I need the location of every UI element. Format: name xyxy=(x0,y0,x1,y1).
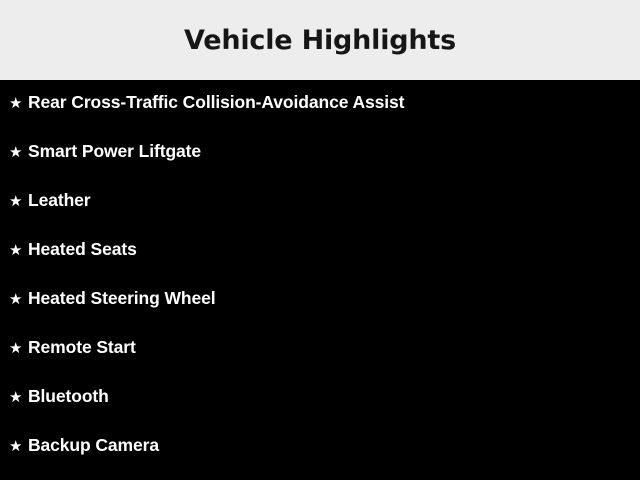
list-item: ★Leather xyxy=(0,190,640,239)
star-icon: ★ xyxy=(9,93,28,113)
star-icon: ★ xyxy=(9,191,28,211)
page-title: Vehicle Highlights xyxy=(184,27,456,54)
highlight-label: Heated Seats xyxy=(28,239,640,259)
list-item: ★Rear Cross-Traffic Collision-Avoidance … xyxy=(0,92,640,141)
highlight-label: Heated Steering Wheel xyxy=(28,288,640,308)
highlights-body: ★Rear Cross-Traffic Collision-Avoidance … xyxy=(0,80,640,480)
star-icon: ★ xyxy=(9,289,28,309)
star-icon: ★ xyxy=(9,240,28,260)
star-icon: ★ xyxy=(9,387,28,407)
highlight-label: Backup Camera xyxy=(28,435,640,455)
vehicle-highlights-panel: Vehicle Highlights ★Rear Cross-Traffic C… xyxy=(0,0,640,480)
highlight-label: Remote Start xyxy=(28,337,640,357)
highlights-list: ★Rear Cross-Traffic Collision-Avoidance … xyxy=(0,92,640,480)
panel-header: Vehicle Highlights xyxy=(0,0,640,80)
list-item: ★Bluetooth xyxy=(0,386,640,435)
highlight-label: Smart Power Liftgate xyxy=(28,141,640,161)
highlight-label: Leather xyxy=(28,190,640,210)
list-item: ★Smart Power Liftgate xyxy=(0,141,640,190)
highlight-label: Rear Cross-Traffic Collision-Avoidance A… xyxy=(28,92,640,112)
list-item: ★Heated Seats xyxy=(0,239,640,288)
star-icon: ★ xyxy=(9,338,28,358)
list-item: ★Backup Camera xyxy=(0,435,640,480)
list-item: ★Remote Start xyxy=(0,337,640,386)
star-icon: ★ xyxy=(9,142,28,162)
highlight-label: Bluetooth xyxy=(28,386,640,406)
star-icon: ★ xyxy=(9,436,28,456)
list-item: ★Heated Steering Wheel xyxy=(0,288,640,337)
